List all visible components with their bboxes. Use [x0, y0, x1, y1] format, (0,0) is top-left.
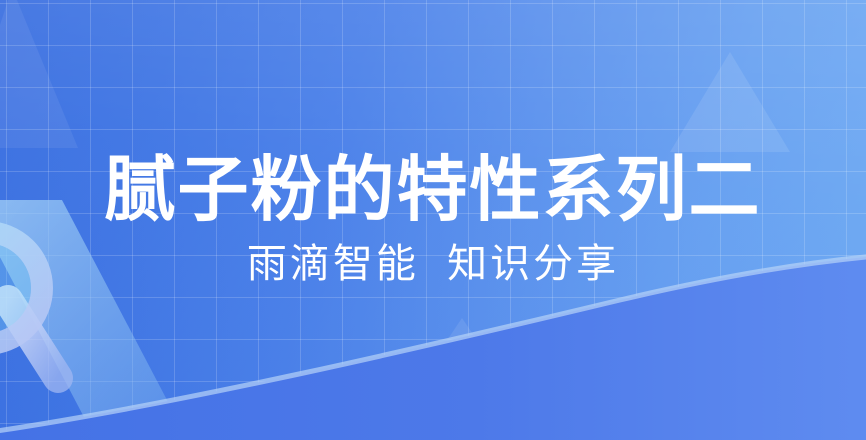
banner-card: 腻子粉的特性系列二 雨滴智能 知识分享	[0, 0, 866, 440]
banner-title: 腻子粉的特性系列二	[104, 154, 761, 229]
banner-subtitle: 雨滴智能 知识分享	[247, 242, 619, 286]
banner-text-block: 腻子粉的特性系列二 雨滴智能 知识分享	[0, 0, 866, 440]
